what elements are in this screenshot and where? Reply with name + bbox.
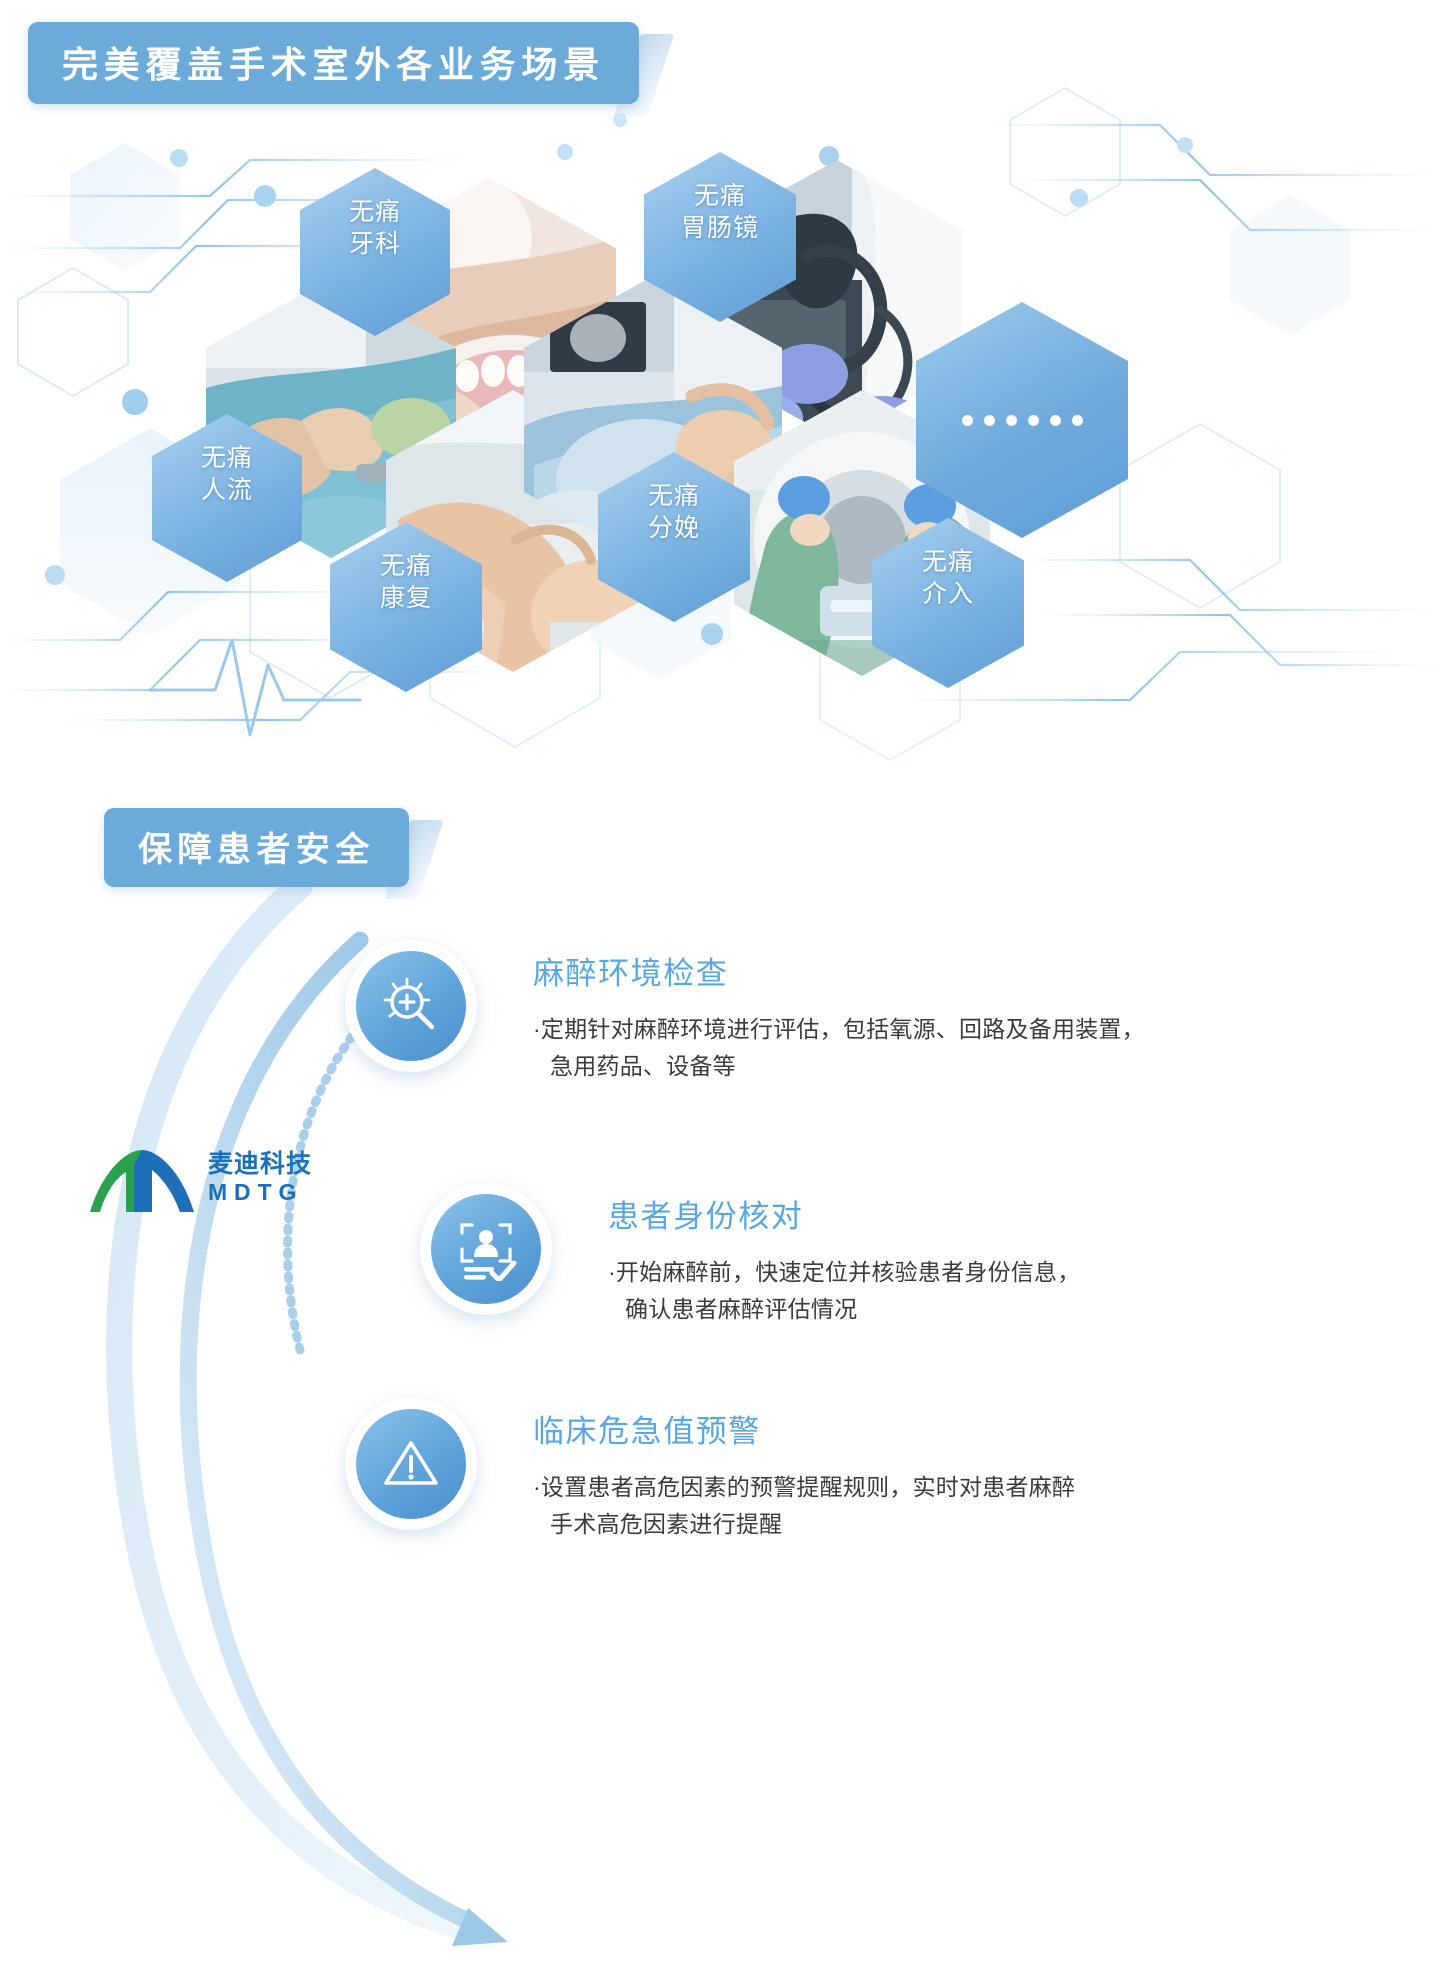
logo-company-name-cn: 麦迪科技 (208, 1151, 312, 1179)
icon-disc (356, 1409, 466, 1519)
feature-env-check-title: 麻醉环境检查 (533, 948, 1145, 993)
feature-critical-alert-text: 临床危急值预警 ·设置患者高危因素的预警提醒规则，实时对患者麻醉 手术高危因素进… (477, 1398, 1075, 1544)
safety-banner: 保障患者安全 (104, 808, 409, 887)
company-logo: 麦迪科技 MDTG (86, 1142, 312, 1216)
feature-critical-alert-title: 临床危急值预警 (533, 1406, 1075, 1451)
warning-triangle-icon (380, 1433, 442, 1495)
more-dot-4 (1028, 415, 1039, 426)
feature-env-check: 麻醉环境检查 ·定期针对麻醉环境进行评估，包括氧源、回路及备用装置， 急用药品、… (345, 940, 1145, 1086)
mdtg-mark-icon (86, 1142, 198, 1216)
feature-identity-verify-title: 患者身份核对 (608, 1191, 1081, 1236)
more-dot-1 (962, 415, 973, 426)
feature-env-check-body: ·定期针对麻醉环境进行评估，包括氧源、回路及备用装置， 急用药品、设备等 (533, 1011, 1145, 1086)
feature-identity-verify-body: ·开始麻醉前，快速定位并核验患者身份信息， 确认患者麻醉评估情况 (608, 1254, 1081, 1329)
more-dot-6 (1072, 415, 1083, 426)
magnifier-plus-icon (380, 975, 442, 1037)
patient-id-verify-icon (454, 1217, 518, 1281)
feature-critical-alert-body-line1: ·设置患者高危因素的预警提醒规则，实时对患者麻醉 (533, 1474, 1075, 1500)
scenarios-banner-title: 完美覆盖手术室外各业务场景 (62, 36, 605, 88)
feature-critical-alert-body-line2: 手术高危因素进行提醒 (533, 1506, 1075, 1543)
scenarios-section: 完美覆盖手术室外各业务场景 无痛 (0, 0, 1440, 790)
more-dot-5 (1050, 415, 1061, 426)
feature-env-check-icon-wrap[interactable] (345, 940, 477, 1072)
more-dot-3 (1006, 415, 1017, 426)
icon-disc (356, 951, 466, 1061)
feature-identity-verify-text: 患者身份核对 ·开始麻醉前，快速定位并核验患者身份信息， 确认患者麻醉评估情况 (552, 1183, 1081, 1329)
safety-banner-title: 保障患者安全 (138, 822, 375, 871)
feature-env-check-body-line1: ·定期针对麻醉环境进行评估，包括氧源、回路及备用装置， (533, 1016, 1145, 1042)
feature-identity-verify-body-line2: 确认患者麻醉评估情况 (608, 1291, 1081, 1328)
icon-disc (431, 1194, 541, 1304)
feature-identity-verify-icon-wrap[interactable] (420, 1183, 552, 1315)
feature-critical-alert: 临床危急值预警 ·设置患者高危因素的预警提醒规则，实时对患者麻醉 手术高危因素进… (345, 1398, 1075, 1544)
feature-env-check-body-line2: 急用药品、设备等 (533, 1048, 1145, 1085)
feature-critical-alert-body: ·设置患者高危因素的预警提醒规则，实时对患者麻醉 手术高危因素进行提醒 (533, 1469, 1075, 1544)
feature-critical-alert-icon-wrap[interactable] (345, 1398, 477, 1530)
logo-company-name-en: MDTG (208, 1178, 312, 1207)
more-dot-2 (984, 415, 995, 426)
scenarios-banner: 完美覆盖手术室外各业务场景 (28, 22, 639, 104)
feature-env-check-text: 麻醉环境检查 ·定期针对麻醉环境进行评估，包括氧源、回路及备用装置， 急用药品、… (477, 940, 1145, 1086)
patient-safety-section: 保障患者安全 麦迪科技 MDTG (0, 790, 1440, 1972)
feature-identity-verify-body-line1: ·开始麻醉前，快速定位并核验患者身份信息， (608, 1259, 1081, 1285)
feature-identity-verify: 患者身份核对 ·开始麻醉前，快速定位并核验患者身份信息， 确认患者麻醉评估情况 (420, 1183, 1081, 1329)
